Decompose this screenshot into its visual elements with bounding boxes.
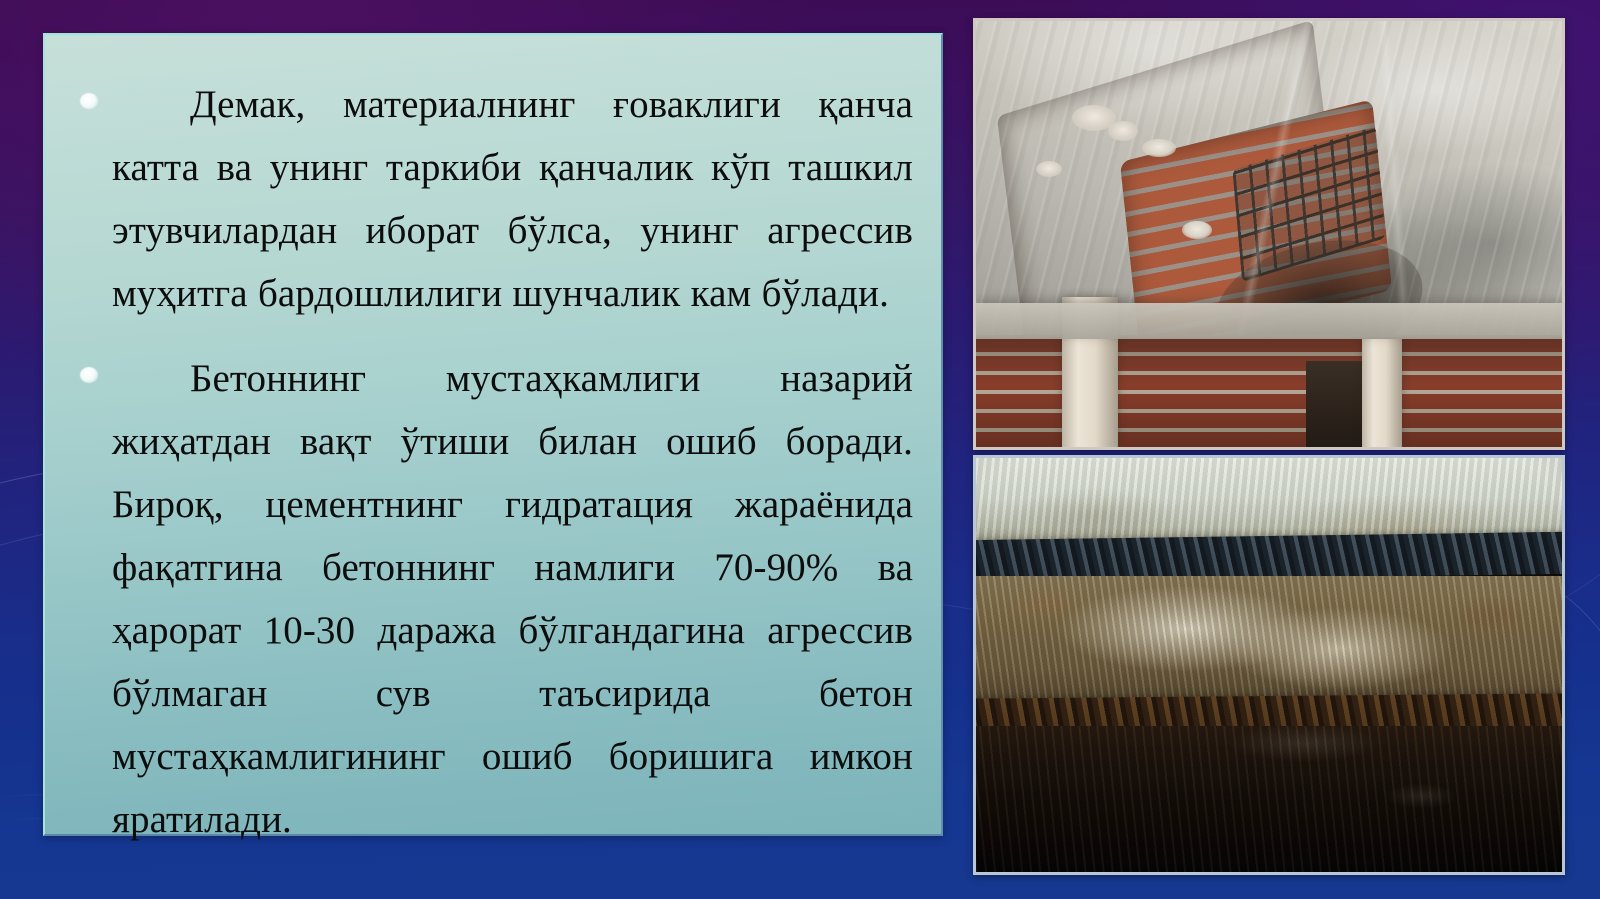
- paragraph-body: Демак, материалнинг ғоваклиги қанча катт…: [112, 83, 913, 315]
- photo-vignette: [976, 458, 1562, 872]
- room-lower-section: [976, 335, 1562, 447]
- bullet-dot-icon: [80, 367, 98, 383]
- concrete-column: [1362, 339, 1402, 447]
- bullet-dot-icon: [80, 93, 98, 109]
- content-text-box: Демак, материалнинг ғоваклиги қанча катт…: [43, 33, 943, 836]
- paragraph-body: Бетоннинг мустаҳкамлиги назарий жиҳатдан…: [112, 357, 913, 841]
- dark-opening: [1306, 361, 1364, 447]
- photo-content: [976, 21, 1562, 447]
- slide: Демак, материалнинг ғоваклиги қанча катт…: [0, 0, 1600, 899]
- concrete-beam: [976, 303, 1562, 339]
- corroded-rebar-cross-section-photo: [973, 455, 1565, 875]
- paragraph-text: Бетоннинг мустаҳкамлиги назарий жиҳатдан…: [112, 347, 913, 851]
- paragraph-text: Демак, материалнинг ғоваклиги қанча катт…: [112, 73, 913, 325]
- bullet-paragraph: Бетоннинг мустаҳкамлиги назарий жиҳатдан…: [67, 347, 919, 851]
- photo-content: [976, 458, 1562, 872]
- damaged-concrete-ceiling-photo: [973, 18, 1565, 450]
- bullet-paragraph: Демак, материалнинг ғоваклиги қанча катт…: [67, 73, 919, 325]
